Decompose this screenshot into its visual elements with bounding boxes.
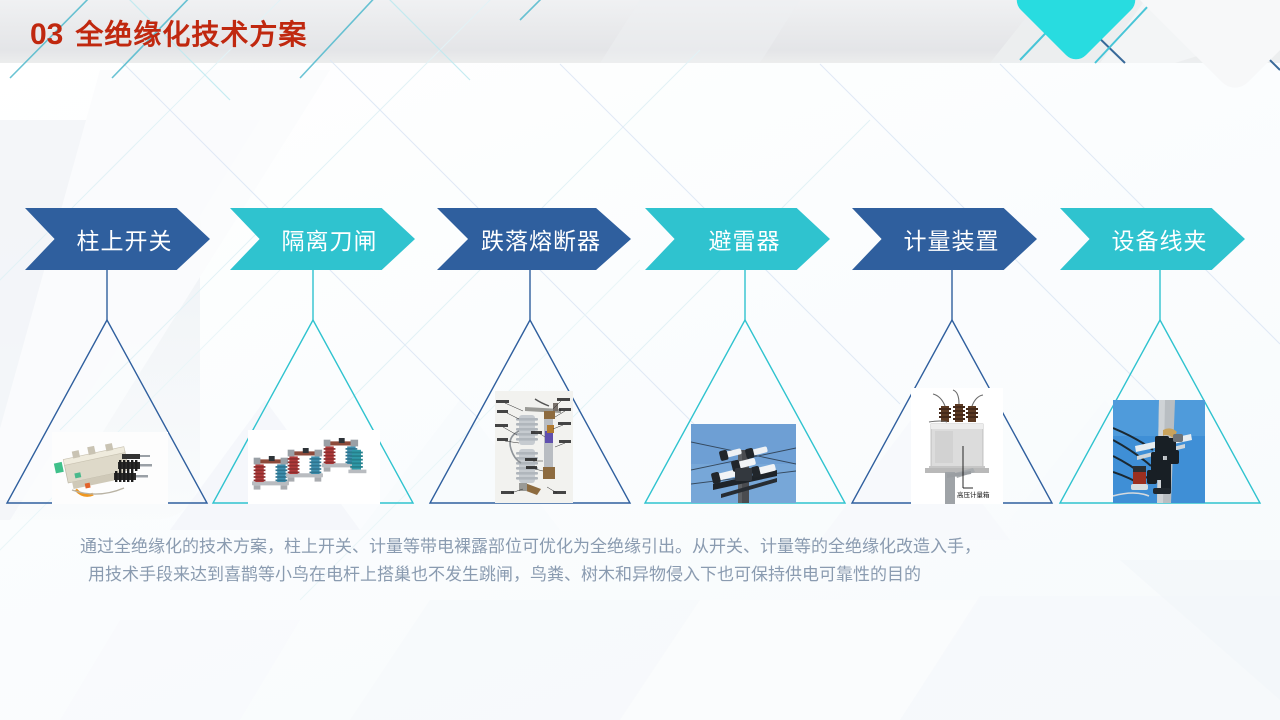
step-label-6: 设备线夹 <box>1112 222 1208 256</box>
step-label-3: 跌落熔断器 <box>481 222 601 256</box>
metering-device-photo: 高压计量箱 <box>911 388 1003 504</box>
metering-box-caption-text: 高压计量箱 <box>957 490 990 499</box>
caption-line-1: 通过全绝缘化的技术方案，柱上开关、计量等带电裸露部位可优化为全绝缘引出。从开关、… <box>80 533 1220 561</box>
process-chevron-row: 柱上开关 隔离刀闸 跌落熔断器 避雷器 计量装置 设备线夹 <box>0 208 1280 270</box>
isolating-switch-photo <box>248 430 380 504</box>
step-label-4: 避雷器 <box>709 222 781 256</box>
step-label-1: 柱上开关 <box>77 222 173 256</box>
slide-title: 03 全绝缘化技术方案 <box>30 20 307 50</box>
section-title-text: 全绝缘化技术方案 <box>75 21 307 49</box>
summary-caption: 通过全绝缘化的技术方案，柱上开关、计量等带电裸露部位可优化为全绝缘引出。从开关、… <box>80 533 1220 589</box>
section-number: 03 <box>30 20 63 50</box>
step-chevron-3[interactable]: 跌落熔断器 <box>437 208 631 270</box>
drop-out-fuse-photo <box>495 391 573 503</box>
triangles-and-connectors <box>0 0 1280 720</box>
step-chevron-5[interactable]: 计量装置 <box>852 208 1037 270</box>
slide-canvas: 03 全绝缘化技术方案 柱上开关 隔离刀闸 跌落熔断器 避雷器 计量装置 设备线… <box>0 0 1280 720</box>
equipment-clamp-photo <box>1113 400 1205 503</box>
step-chevron-1[interactable]: 柱上开关 <box>25 208 210 270</box>
step-chevron-2[interactable]: 隔离刀闸 <box>230 208 415 270</box>
pole-mounted-switch-photo <box>52 432 168 504</box>
step-label-5: 计量装置 <box>904 222 1000 256</box>
surge-arrester-photo <box>691 424 796 503</box>
step-chevron-6[interactable]: 设备线夹 <box>1060 208 1245 270</box>
step-chevron-4[interactable]: 避雷器 <box>645 208 830 270</box>
caption-line-2: 用技术手段来达到喜鹊等小鸟在电杆上搭巢也不发生跳闸，鸟粪、树木和异物侵入下也可保… <box>80 561 1220 589</box>
step-label-2: 隔离刀闸 <box>282 222 378 256</box>
